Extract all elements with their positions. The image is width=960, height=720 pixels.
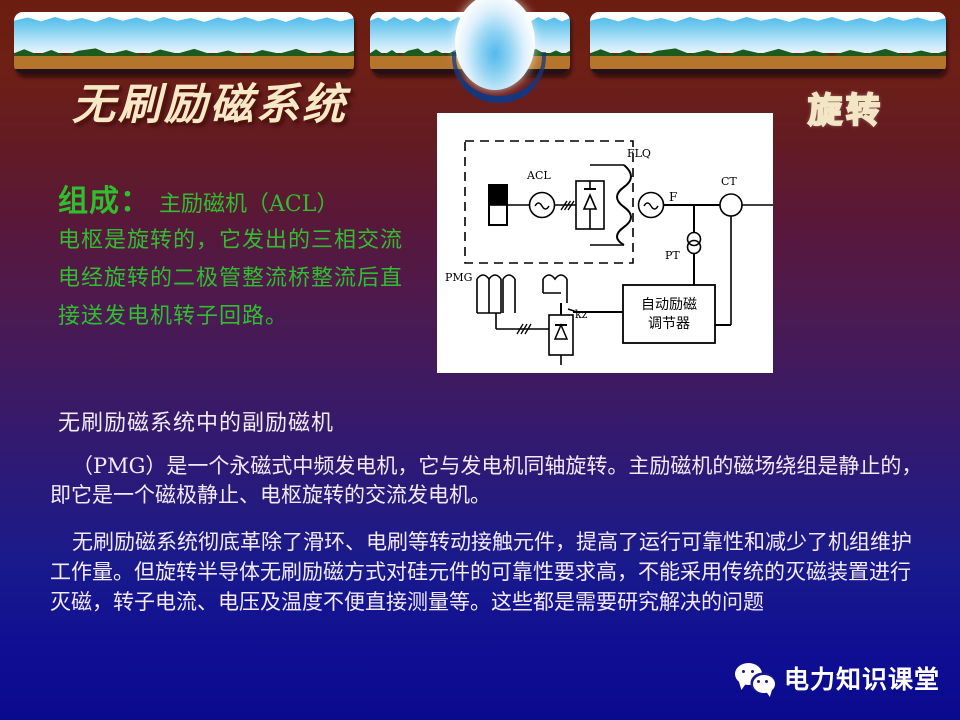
rotating-badge: 旋转 — [808, 83, 884, 132]
flq-field-winding — [617, 165, 631, 245]
circuit-diagram-panel: FLQ PT CT — [437, 113, 773, 373]
paragraph-advantages: 无刷励磁系统彻底革除了滑环、电刷等转动接触元件，提高了运行可靠性和减少了机组维护… — [50, 527, 930, 617]
composition-label: 组成： — [58, 184, 151, 219]
ct-symbol — [720, 194, 742, 216]
composition-body: 电枢是旋转的，它发出的三相交流电经旋转的二极管整流桥整流后直接送发电机转子回路。 — [58, 222, 408, 336]
globe-arc-icon — [452, 52, 546, 103]
label-pmg: PMG — [445, 271, 472, 284]
pmg-windings — [477, 275, 515, 313]
label-acl: ACL — [526, 169, 551, 182]
page-title: 无刷励磁系统 — [72, 70, 348, 132]
label-flq: FLQ — [627, 147, 651, 160]
f-ac-wave — [644, 203, 658, 209]
label-kz: kz — [575, 308, 588, 321]
footer-label: 电力知识课堂 — [784, 660, 940, 696]
banner-landscape-left — [14, 12, 354, 74]
rotor-box-filled — [489, 185, 507, 205]
paragraph-pmg: （PMG）是一个永磁式中频发电机，它与发电机同轴旋转。主励磁机的磁场绕组是静止的… — [50, 452, 930, 510]
sub-exciter-line: 无刷励磁系统中的副励磁机 — [58, 405, 334, 437]
regulator-label-line2: 调节器 — [648, 316, 690, 332]
label-pt: PT — [665, 249, 680, 262]
composition-heading: 组成：主励磁机（ACL） — [58, 176, 438, 220]
pt-coil-bottom — [688, 241, 701, 254]
exciter-stator-winding — [543, 275, 567, 279]
kz-thyristor-bridge — [549, 315, 573, 355]
ground-band — [590, 56, 946, 74]
acl-ac-wave — [535, 203, 549, 209]
banner-landscape-right — [590, 12, 946, 74]
regulator-label-line1: 自动励磁 — [641, 297, 697, 313]
label-ct: CT — [721, 175, 737, 188]
footer-logo: 电力知识课堂 — [735, 660, 940, 696]
excitation-regulator-box — [623, 285, 715, 343]
composition-sub: 主励磁机（ACL） — [159, 192, 338, 217]
label-f: F — [669, 190, 677, 204]
wechat-icon — [735, 663, 775, 693]
circuit-diagram-svg: FLQ PT CT — [437, 113, 773, 373]
slide-root: 无刷励磁系统 旋转 组成：主励磁机（ACL） 电枢是旋转的，它发出的三相交流电经… — [0, 0, 960, 720]
